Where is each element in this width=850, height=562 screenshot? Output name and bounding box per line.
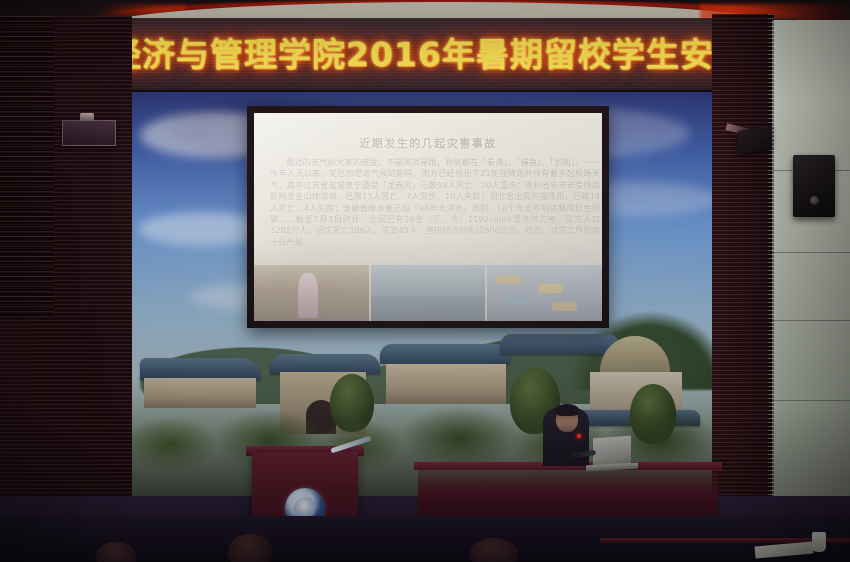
wall-panel-seam xyxy=(772,320,850,321)
right-wall-edge xyxy=(768,14,774,562)
left-ribbed-wall xyxy=(0,16,132,562)
audience-head xyxy=(470,538,518,562)
presenter-desk xyxy=(418,466,718,518)
projection-screen: 近期发生的几起灾害事故 最近的天气给大家的感受，不是风就是雨，到处都在「看海」、… xyxy=(254,113,602,321)
loudspeaker-icon xyxy=(793,155,835,217)
wall-slats xyxy=(0,16,54,316)
wall-vent-fixture xyxy=(62,120,116,146)
audience-head xyxy=(228,534,272,562)
submerged-car xyxy=(497,275,522,284)
auditorium-scene: 近期发生的几起灾害事故 最近的天气给大家的感受，不是风就是雨，到处都在「看海」、… xyxy=(0,0,850,562)
building-roof xyxy=(380,344,510,364)
slide-body-text: 最近的天气给大家的感受，不是风就是雨，到处都在「看海」、「捕鱼」、「划船」。——… xyxy=(270,157,600,248)
slide-photo-flood xyxy=(371,265,486,321)
slide-body: 最近的天气给大家的感受，不是风就是雨，到处都在「看海」、「捕鱼」、「划船」。——… xyxy=(270,157,600,248)
right-light-wall xyxy=(772,20,850,562)
submerged-car xyxy=(538,284,563,293)
slide-photo-debris xyxy=(254,265,369,321)
wall-panel-seam xyxy=(772,252,850,253)
building-roof xyxy=(270,354,380,374)
audience-head xyxy=(96,542,136,562)
slide-title: 近期发生的几起灾害事故 xyxy=(254,135,602,151)
loudspeaker-cone xyxy=(810,196,819,205)
paper-cup xyxy=(812,532,826,552)
wall-vent-top xyxy=(80,113,94,121)
submerged-car xyxy=(506,296,531,305)
wall-panel-seam xyxy=(772,400,850,401)
slide-photo-vehicles xyxy=(487,265,602,321)
led-banner-text: 经济与管理学院2016年暑期留校学生安全教育大会 xyxy=(108,34,796,76)
right-dark-wall xyxy=(712,14,774,562)
slide-photo-strip xyxy=(254,265,602,321)
led-banner-panel: 经济与管理学院2016年暑期留校学生安全教育大会 xyxy=(108,18,796,90)
submerged-car xyxy=(552,302,577,311)
presenter-hair xyxy=(555,404,579,416)
building-roof xyxy=(140,358,260,380)
device-led-indicator xyxy=(577,434,581,438)
projection-screen-frame: 近期发生的几起灾害事故 最近的天气给大家的感受，不是风就是雨，到处都在「看海」、… xyxy=(247,106,609,328)
building-roof xyxy=(500,334,620,354)
